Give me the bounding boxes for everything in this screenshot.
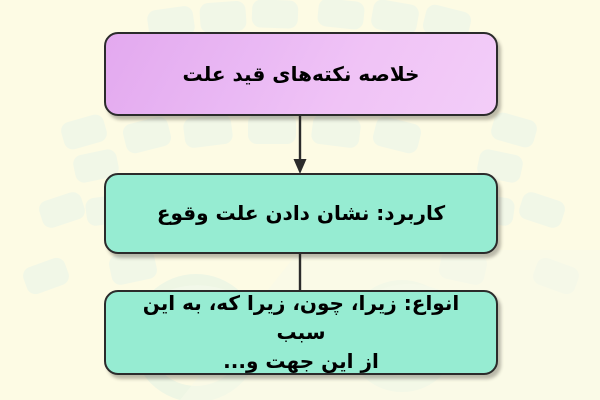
flowchart-canvas: خلاصه نکته‌های قید علت کاربرد: نشان دادن… — [0, 0, 600, 400]
flow-node-summary-label: خلاصه نکته‌های قید علت — [106, 60, 496, 88]
flow-node-types-label: انواع: زیرا، چون، زیرا که، به این سبب از… — [106, 289, 496, 376]
connector-arrow-summary-to-usage — [288, 114, 312, 176]
flow-node-usage-label: کاربرد: نشان دادن علت وقوع — [106, 199, 496, 227]
connector-line-usage-to-types — [288, 252, 312, 292]
flow-node-summary[interactable]: خلاصه نکته‌های قید علت — [104, 32, 498, 116]
flow-node-usage[interactable]: کاربرد: نشان دادن علت وقوع — [104, 173, 498, 254]
flow-node-types[interactable]: انواع: زیرا، چون، زیرا که، به این سبب از… — [104, 290, 498, 375]
